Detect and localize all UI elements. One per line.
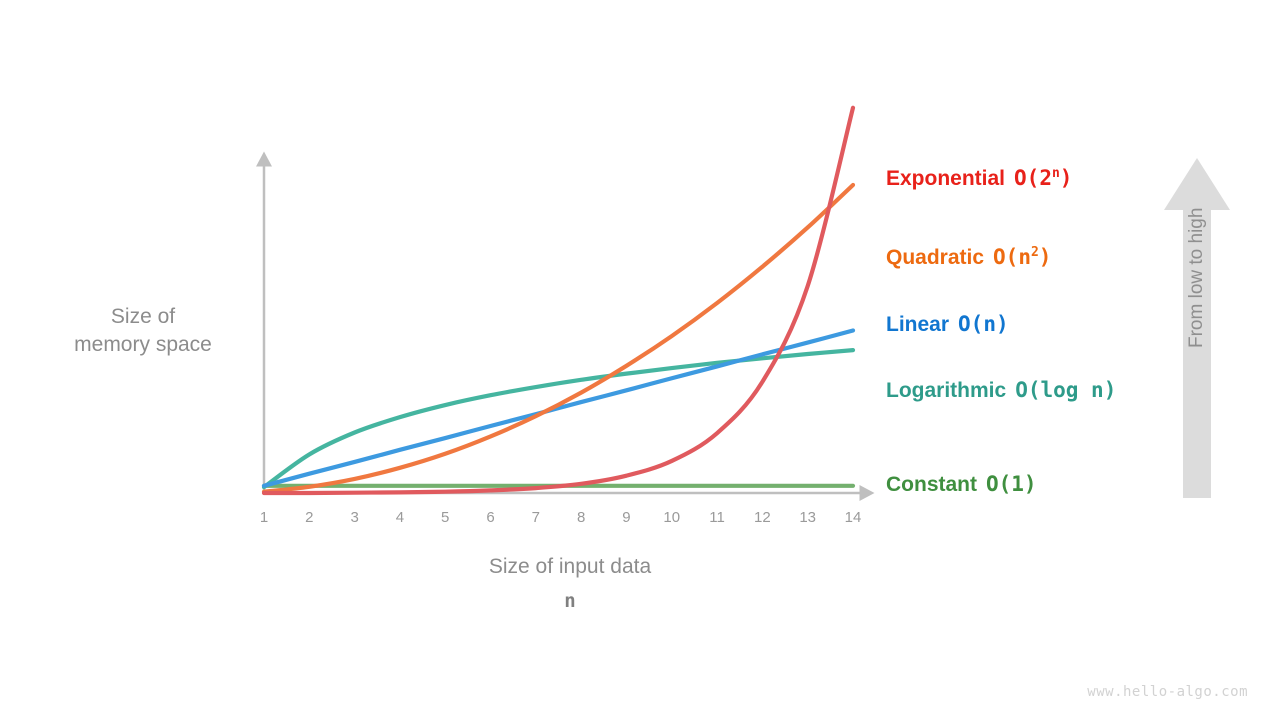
site-watermark: www.hello-algo.com: [1087, 684, 1248, 700]
chart-canvas: Size ofmemory space Size of input data n…: [0, 0, 1280, 720]
magnitude-arrow-label: From low to high: [1186, 274, 1208, 348]
x-axis-title: Size of input data: [430, 553, 710, 581]
x-tick-12: 12: [747, 509, 777, 526]
legend-notation: O(1): [986, 472, 1037, 496]
legend-item-quadratic: QuadraticO(n2): [886, 245, 1051, 270]
x-tick-14: 14: [838, 509, 868, 526]
x-tick-1: 1: [249, 509, 279, 526]
legend-notation: O(n2): [993, 245, 1051, 269]
legend-item-linear: LinearO(n): [886, 312, 1009, 337]
x-tick-8: 8: [566, 509, 596, 526]
legend-item-constant: ConstantO(1): [886, 472, 1037, 497]
legend-notation: O(n): [958, 312, 1009, 336]
complexity-plot: [0, 0, 1280, 720]
legend-name: Exponential: [886, 167, 1005, 190]
legend-name: Logarithmic: [886, 379, 1006, 402]
x-tick-5: 5: [430, 509, 460, 526]
series-line-logarithmic: [264, 350, 853, 487]
legend-item-exponential: ExponentialO(2n): [886, 166, 1072, 191]
series-line-quadratic: [264, 185, 853, 492]
legend-notation: O(log n): [1015, 378, 1116, 402]
x-tick-6: 6: [476, 509, 506, 526]
legend-item-logarithmic: LogarithmicO(log n): [886, 378, 1116, 403]
x-tick-3: 3: [340, 509, 370, 526]
x-axis-variable: n: [430, 590, 710, 612]
x-tick-7: 7: [521, 509, 551, 526]
x-tick-9: 9: [611, 509, 641, 526]
legend-notation: O(2n): [1014, 166, 1072, 190]
legend-name: Quadratic: [886, 246, 984, 269]
x-tick-11: 11: [702, 509, 732, 526]
y-axis-title: Size ofmemory space: [38, 303, 248, 359]
legend-name: Constant: [886, 473, 977, 496]
x-tick-2: 2: [294, 509, 324, 526]
x-tick-10: 10: [657, 509, 687, 526]
legend-name: Linear: [886, 313, 949, 336]
series-group: [264, 108, 853, 493]
x-tick-4: 4: [385, 509, 415, 526]
x-tick-13: 13: [793, 509, 823, 526]
series-line-linear: [264, 330, 853, 485]
